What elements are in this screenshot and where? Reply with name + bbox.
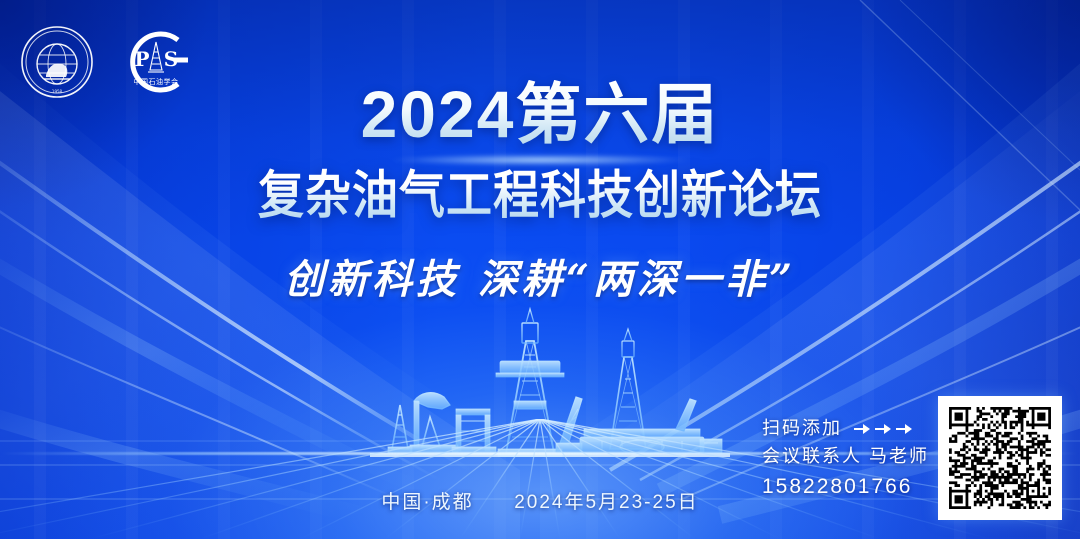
title-block: 2024第六届 复杂油气工程科技创新论坛 创新科技 深耕“两深一非” xyxy=(0,80,1080,305)
contact-block: 扫码添加 会议联系人 马老师 15822801766 xyxy=(762,415,929,502)
contact-phone: 15822801766 xyxy=(762,471,929,503)
contact-person-label: 会议联系人 马老师 xyxy=(762,443,929,471)
svg-text:P: P xyxy=(134,47,149,71)
svg-text:S: S xyxy=(164,47,178,71)
page-slogan: 创新科技 深耕“两深一非” xyxy=(0,247,1080,305)
scan-label: 扫码添加 xyxy=(762,415,842,443)
footer-location: 中国·成都 xyxy=(381,492,473,513)
page-title-year: 2024第六届 xyxy=(0,80,1080,149)
conference-banner: 1958 P S 中国石油学会 2024第六届 复杂油气工程科技创新论坛 创新科… xyxy=(0,0,1080,539)
contact-person-row: 会议联系人 马老师 xyxy=(762,443,929,471)
scan-row: 扫码添加 xyxy=(762,415,929,443)
footer-date: 2024年5月23-25日 xyxy=(514,492,698,513)
title-underglow xyxy=(330,152,750,168)
right-arrow-icon xyxy=(854,422,916,436)
qr-code[interactable] xyxy=(938,396,1062,520)
